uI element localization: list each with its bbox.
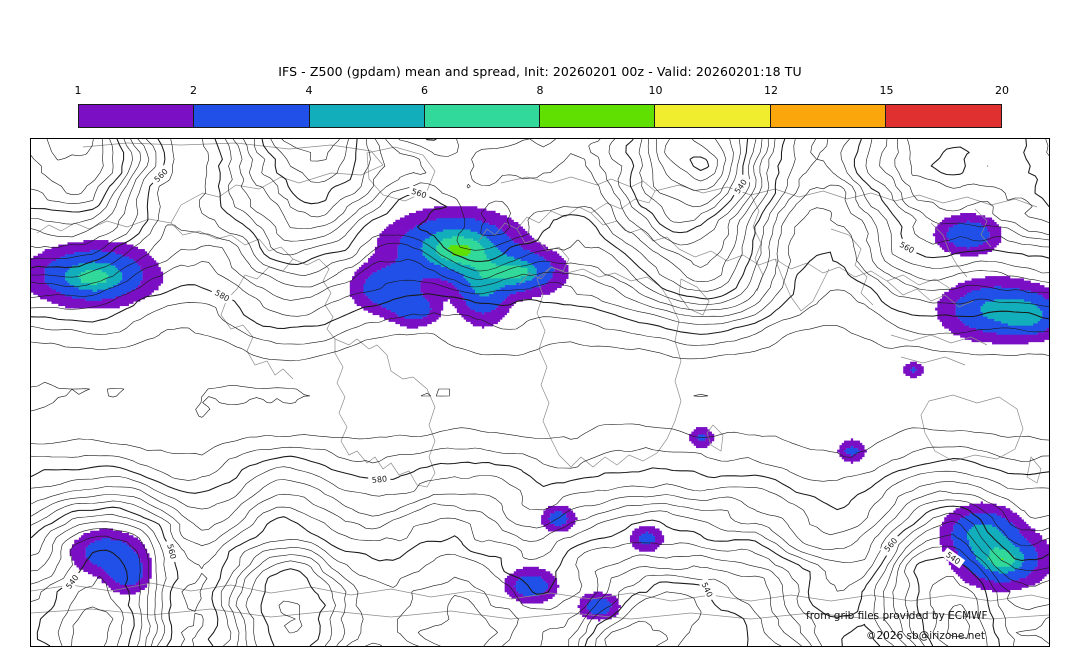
weather-map-page: IFS - Z500 (gpdam) mean and spread, Init…	[0, 0, 1080, 658]
contour-line	[279, 601, 302, 633]
map-svg: 540540540540560560560560560580580	[31, 139, 1049, 646]
contour-line	[31, 447, 1049, 482]
contour-line	[254, 139, 370, 217]
contour-line	[181, 613, 203, 646]
colorbar-gradient	[78, 104, 1002, 128]
colorbar-tick-15: 15	[880, 84, 894, 97]
contour-line	[107, 388, 124, 397]
contour-line	[31, 139, 149, 248]
contour-line	[426, 139, 436, 140]
source-credit: from grib files provided by ECMWF	[806, 610, 988, 622]
contour-line	[236, 555, 346, 647]
contour-line	[243, 139, 385, 229]
contour-line	[31, 424, 1049, 457]
copyright-credit: ©2026 sb@irizone.net	[866, 630, 985, 642]
spread-shading-layer	[31, 206, 1049, 621]
contour-line	[467, 184, 470, 188]
colorbar-tick-1: 1	[75, 84, 82, 97]
contour-line	[589, 139, 762, 268]
colorbar-tick-10: 10	[649, 84, 663, 97]
colorbar-tick-20: 20	[995, 84, 1009, 97]
contour-line	[366, 643, 383, 646]
colorbar-segment-8-10	[540, 105, 655, 127]
colorbar-tick-2: 2	[190, 84, 197, 97]
contour-line	[436, 389, 449, 396]
contour-label: 580	[371, 474, 387, 485]
colorbar-segment-6-8	[425, 105, 540, 127]
contour-line	[31, 382, 90, 411]
contour-line	[399, 139, 459, 157]
contour-line	[271, 139, 349, 183]
contour-line	[907, 139, 1049, 223]
contour-line	[1024, 139, 1049, 207]
contour-line	[648, 139, 733, 207]
contour-line	[261, 569, 325, 646]
colorbar-segment-12-15	[771, 105, 886, 127]
map-panel: 540540540540560560560560560580580	[30, 138, 1050, 647]
colorbar-segment-2-4	[194, 105, 309, 127]
contour-line	[31, 290, 1049, 346]
colorbar: 1246810121520	[78, 104, 1002, 128]
contour-line	[262, 139, 357, 204]
colorbar-tick-4: 4	[306, 84, 313, 97]
contour-line	[196, 386, 310, 418]
colorbar-segment-4-6	[310, 105, 425, 127]
colorbar-segment-10-12	[655, 105, 770, 127]
contour-line	[397, 577, 518, 646]
contour-line	[47, 139, 93, 160]
contour-line	[530, 139, 556, 147]
contour-line	[1016, 617, 1049, 644]
contour-line	[72, 607, 113, 646]
contour-line	[626, 139, 748, 233]
contour-line	[690, 157, 709, 171]
contour-line	[31, 139, 103, 195]
colorbar-tick-labels: 1246810121520	[78, 84, 1002, 102]
colorbar-tick-12: 12	[764, 84, 778, 97]
contour-line	[931, 147, 969, 175]
contour-label: 560	[410, 187, 427, 200]
contour-line	[605, 621, 668, 646]
contour-line	[694, 394, 708, 396]
contour-label: 560	[165, 543, 178, 560]
colorbar-tick-8: 8	[537, 84, 544, 97]
contour-line	[418, 595, 497, 646]
contour-line	[817, 139, 1049, 283]
colorbar-tick-6: 6	[421, 84, 428, 97]
contour-line	[182, 573, 207, 611]
colorbar-segment-1-2	[79, 105, 194, 127]
contour-line	[665, 139, 718, 181]
chart-title: IFS - Z500 (gpdam) mean and spread, Init…	[0, 64, 1080, 79]
contour-line	[282, 139, 340, 161]
contour-line	[31, 456, 1049, 509]
contour-line	[657, 139, 726, 191]
colorbar-segment-15-20	[886, 105, 1001, 127]
contour-line	[1046, 139, 1049, 156]
coastline-layer	[31, 143, 1049, 619]
contour-line	[31, 326, 1049, 361]
contour-line	[639, 139, 741, 222]
